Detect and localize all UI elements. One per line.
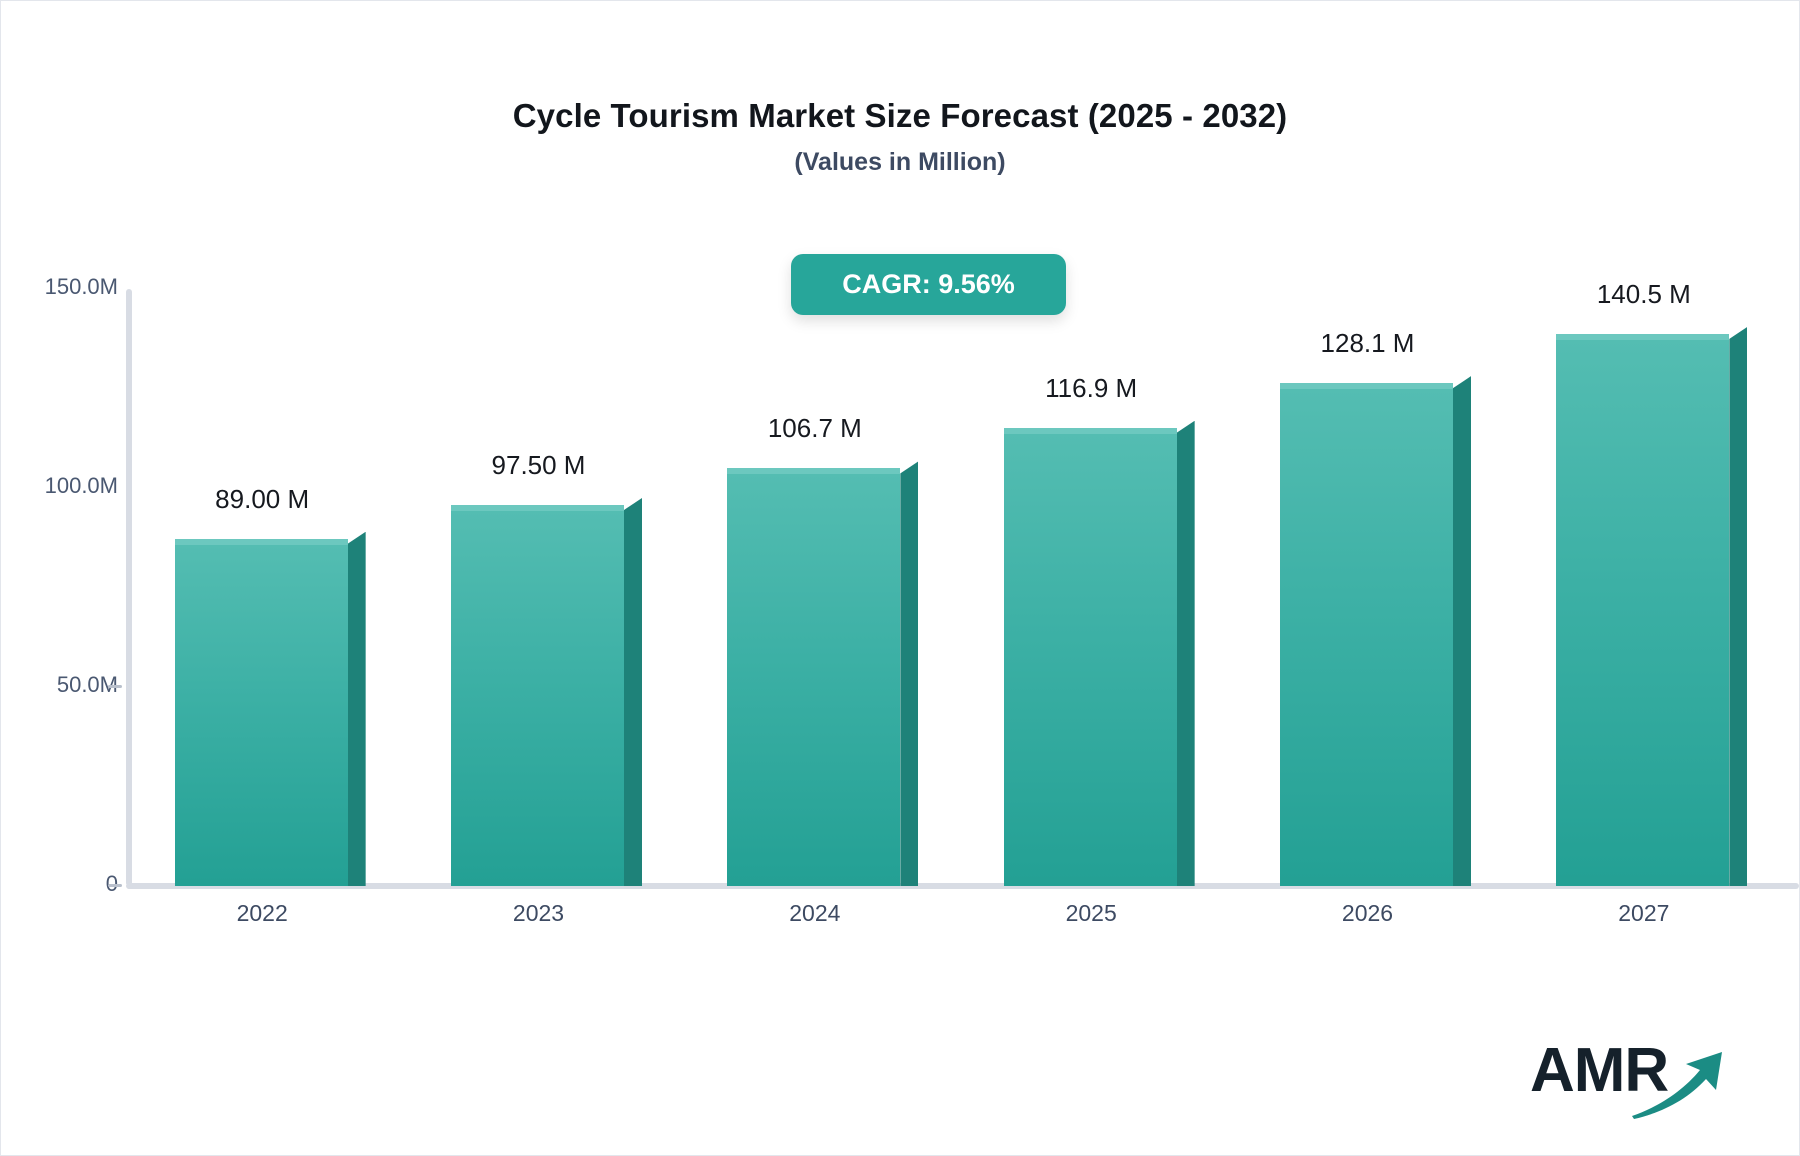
bar[interactable] xyxy=(175,532,366,886)
bar-side-face xyxy=(900,461,918,886)
bar[interactable] xyxy=(1004,421,1195,886)
amr-logo: AMR xyxy=(1530,1040,1720,1120)
bar-value-label: 97.50 M xyxy=(492,450,586,481)
bar-top-face xyxy=(451,505,624,511)
bar-front-face xyxy=(1280,388,1453,886)
bar-value-label: 128.1 M xyxy=(1321,328,1415,359)
y-axis-tick-mark xyxy=(108,685,122,688)
bar[interactable] xyxy=(1280,376,1471,886)
y-axis-tick-label: 150.0M xyxy=(45,274,118,300)
bar[interactable] xyxy=(451,498,642,886)
bar-front-face xyxy=(1004,433,1177,886)
y-axis-tick-mark xyxy=(108,884,122,887)
bar[interactable] xyxy=(1556,327,1747,886)
y-axis-tick-label: 100.0M xyxy=(45,473,118,499)
bar-value-label: 140.5 M xyxy=(1597,279,1691,310)
bar-top-face xyxy=(1556,334,1729,340)
x-axis-tick-label: 2022 xyxy=(237,900,288,927)
bar-value-label: 116.9 M xyxy=(1045,373,1137,404)
x-axis-tick-label: 2026 xyxy=(1342,900,1393,927)
bar-top-face xyxy=(1004,428,1177,434)
bar-side-face xyxy=(624,498,642,886)
bar[interactable] xyxy=(727,461,918,886)
x-axis-tick-label: 2024 xyxy=(789,900,840,927)
bar-side-face xyxy=(1177,421,1195,886)
plot-area: 050.0M100.0M150.0M 89.00 M97.50 M106.7 M… xyxy=(0,0,1800,1156)
bar-top-face xyxy=(1280,383,1453,389)
y-axis-line xyxy=(126,289,132,886)
bar-top-face xyxy=(727,468,900,474)
x-axis-tick-label: 2027 xyxy=(1618,900,1669,927)
growth-arrow-icon xyxy=(1630,1048,1725,1120)
bar-side-face xyxy=(348,532,366,886)
bar-front-face xyxy=(727,473,900,886)
x-axis-line xyxy=(126,883,1799,889)
bar-front-face xyxy=(1556,339,1729,886)
bar-front-face xyxy=(175,544,348,886)
x-axis-tick-label: 2023 xyxy=(513,900,564,927)
bar-side-face xyxy=(1453,376,1471,886)
x-axis-tick-label: 2025 xyxy=(1066,900,1117,927)
bar-value-label: 89.00 M xyxy=(215,484,309,515)
bar-top-face xyxy=(175,539,348,545)
bar-front-face xyxy=(451,510,624,886)
bar-side-face xyxy=(1729,327,1747,886)
bar-value-label: 106.7 M xyxy=(768,413,862,444)
